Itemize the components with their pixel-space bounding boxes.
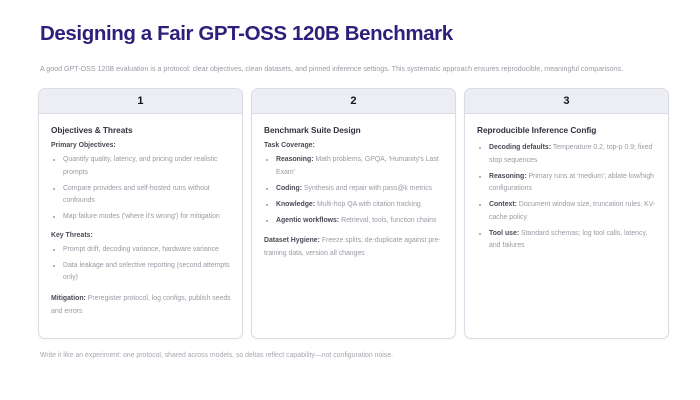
cards-row: 1 Objectives & Threats Primary Objective… — [38, 88, 669, 339]
list-item: Compare providers and self-hosted runs w… — [51, 183, 231, 208]
slide-root: Designing a Fair GPT-OSS 120B Benchmark … — [0, 0, 700, 400]
card-1-note: Mitigation: Preregister protocol, log co… — [51, 293, 231, 318]
card-1-section-0-label: Primary Objectives: — [51, 142, 231, 149]
list-item: Tool use: Standard schemas; log tool cal… — [477, 228, 657, 253]
list-item: Map failure modes ('where it's wrong') f… — [51, 211, 231, 224]
bullet-text: Map failure modes ('where it's wrong') f… — [63, 213, 220, 220]
card-1-section-1-list: Prompt drift, decoding variance, hardwar… — [51, 244, 231, 285]
bullet-text: Data leakage and selective reporting (se… — [63, 262, 230, 282]
card-3[interactable]: 3 Reproducible Inference Config Decoding… — [464, 88, 669, 339]
card-2-body: Benchmark Suite Design Task Coverage: Re… — [252, 114, 455, 338]
intro-paragraph: A good GPT-OSS 120B evaluation is a prot… — [40, 63, 668, 75]
card-1-body: Objectives & Threats Primary Objectives:… — [39, 114, 242, 338]
bullet-lead: Tool use: — [489, 230, 519, 237]
bullet-lead: Reasoning: — [489, 173, 527, 180]
list-item: Reasoning: Primary runs at 'medium'; abl… — [477, 171, 657, 196]
card-1-number: 1 — [137, 95, 143, 107]
bullet-lead: Context: — [489, 201, 517, 208]
card-3-number: 3 — [563, 95, 569, 107]
card-3-title: Reproducible Inference Config — [477, 125, 657, 135]
list-item: Knowledge: Multi-hop QA with citation tr… — [264, 199, 444, 212]
card-2-number: 2 — [350, 95, 356, 107]
card-2-note: Dataset Hygiene: Freeze splits, de-dupli… — [264, 235, 444, 260]
bullet-text: Synthesis and repair with pass@k metrics — [304, 185, 432, 192]
card-3-section-0-list: Decoding defaults: Temperature 0.2, top-… — [477, 142, 657, 253]
list-item: Reasoning: Math problems, GPQA, 'Humanit… — [264, 154, 444, 179]
card-2-title: Benchmark Suite Design — [264, 125, 444, 135]
card-2-header: 2 — [252, 89, 455, 114]
card-2-section-0-list: Reasoning: Math problems, GPQA, 'Humanit… — [264, 154, 444, 227]
card-1-title: Objectives & Threats — [51, 125, 231, 135]
card-2-section-0-label: Task Coverage: — [264, 142, 444, 149]
list-item: Coding: Synthesis and repair with pass@k… — [264, 183, 444, 196]
bullet-lead: Decoding defaults: — [489, 144, 551, 151]
card-3-header: 3 — [465, 89, 668, 114]
card-2[interactable]: 2 Benchmark Suite Design Task Coverage: … — [251, 88, 456, 339]
note-lead: Mitigation: — [51, 295, 86, 302]
list-item: Quantify quality, latency, and pricing u… — [51, 154, 231, 179]
card-1-section-0-list: Quantify quality, latency, and pricing u… — [51, 154, 231, 224]
note-lead: Dataset Hygiene: — [264, 237, 320, 244]
card-1-header: 1 — [39, 89, 242, 114]
bullet-text: Compare providers and self-hosted runs w… — [63, 185, 210, 205]
footer-note: Write it like an experiment: one protoco… — [38, 350, 669, 361]
card-1-section-1-label: Key Threats: — [51, 232, 231, 239]
card-1[interactable]: 1 Objectives & Threats Primary Objective… — [38, 88, 243, 339]
bullet-lead: Knowledge: — [276, 201, 315, 208]
bullet-text: Retrieval, tools, function chains — [341, 217, 436, 224]
list-item: Agentic workflows: Retrieval, tools, fun… — [264, 215, 444, 228]
card-3-body: Reproducible Inference Config Decoding d… — [465, 114, 668, 338]
list-item: Prompt drift, decoding variance, hardwar… — [51, 244, 231, 257]
page-title: Designing a Fair GPT-OSS 120B Benchmark — [38, 22, 669, 47]
list-item: Context: Document window size, truncatio… — [477, 199, 657, 224]
bullet-text: Prompt drift, decoding variance, hardwar… — [63, 246, 219, 253]
bullet-text: Multi-hop QA with citation tracking — [317, 201, 421, 208]
bullet-lead: Reasoning: — [276, 156, 314, 163]
bullet-lead: Agentic workflows: — [276, 217, 339, 224]
list-item: Data leakage and selective reporting (se… — [51, 260, 231, 285]
spacer — [51, 224, 231, 232]
bullet-text: Quantify quality, latency, and pricing u… — [63, 156, 217, 176]
list-item: Decoding defaults: Temperature 0.2, top-… — [477, 142, 657, 167]
bullet-lead: Coding: — [276, 185, 302, 192]
